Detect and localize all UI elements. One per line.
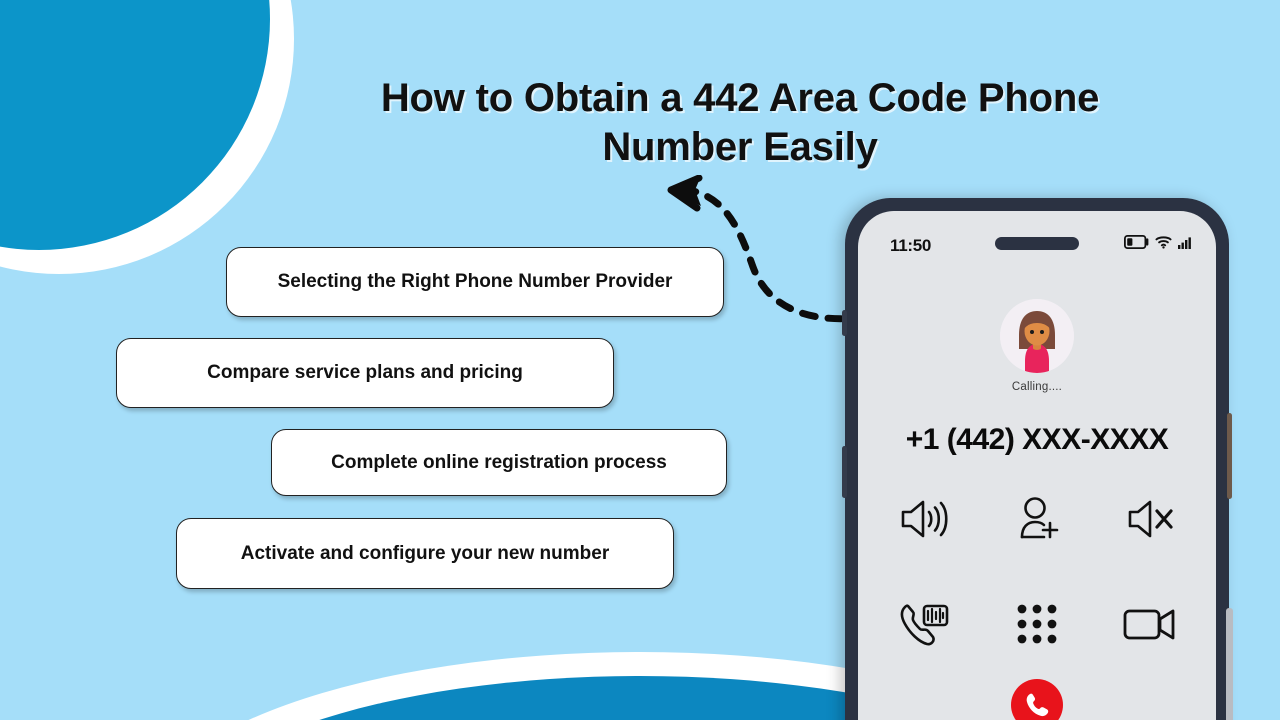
end-call-button[interactable] <box>1011 679 1063 720</box>
step-box-2-label: Compare service plans and pricing <box>207 360 523 385</box>
video-camera-icon <box>1123 606 1177 642</box>
speaker-button[interactable] <box>880 489 968 549</box>
phone-volume-button[interactable] <box>842 446 847 498</box>
step-box-1[interactable]: Selecting the Right Phone Number Provide… <box>226 247 724 317</box>
phone-mockup: 11:50 <box>845 198 1229 720</box>
status-bar-icons <box>1124 235 1194 249</box>
end-call-icon <box>1023 691 1051 719</box>
step-box-2[interactable]: Compare service plans and pricing <box>116 338 614 408</box>
step-box-4[interactable]: Activate and configure your new number <box>176 518 674 589</box>
keypad-icon <box>1017 604 1057 644</box>
woman-avatar-icon <box>1000 299 1074 373</box>
video-button[interactable] <box>1106 594 1194 654</box>
step-box-3-label: Complete online registration process <box>331 450 667 475</box>
top-left-blue-circle <box>0 0 270 250</box>
mute-icon <box>1126 497 1174 541</box>
status-bar-time: 11:50 <box>890 236 931 256</box>
call-controls-row-2 <box>880 594 1194 654</box>
page-title-line-2: Number Easily <box>602 125 877 169</box>
calling-status-text: Calling.... <box>858 381 1216 393</box>
dynamic-island-pill <box>995 237 1079 250</box>
wifi-icon <box>1155 235 1172 249</box>
record-call-button[interactable] <box>880 594 968 654</box>
call-controls-row-1 <box>880 489 1194 549</box>
top-left-white-ring <box>0 0 294 274</box>
phone-screen: 11:50 <box>858 211 1216 720</box>
status-bar: 11:50 <box>858 233 1216 259</box>
add-person-button[interactable] <box>993 489 1081 549</box>
avatar <box>1000 299 1074 373</box>
phone-side-button[interactable] <box>1226 608 1233 720</box>
step-box-1-label: Selecting the Right Phone Number Provide… <box>278 269 673 294</box>
record-call-icon <box>897 599 951 649</box>
dashed-curved-arrow <box>655 175 870 335</box>
speaker-icon <box>899 497 949 541</box>
cellular-signal-icon <box>1178 235 1194 249</box>
mute-button[interactable] <box>1106 489 1194 549</box>
page-title: How to Obtain a 442 Area Code Phone Numb… <box>330 74 1150 172</box>
step-box-4-label: Activate and configure your new number <box>241 541 609 566</box>
step-box-3[interactable]: Complete online registration process <box>271 429 727 496</box>
phone-power-button[interactable] <box>1227 413 1232 499</box>
page-title-line-1: How to Obtain a 442 Area Code Phone <box>381 76 1099 120</box>
phone-mute-switch[interactable] <box>842 310 847 336</box>
add-person-icon <box>1015 496 1059 542</box>
phone-number-display: +1 (442) XXX-XXXX <box>858 423 1216 457</box>
battery-icon <box>1124 235 1149 249</box>
keypad-button[interactable] <box>993 594 1081 654</box>
